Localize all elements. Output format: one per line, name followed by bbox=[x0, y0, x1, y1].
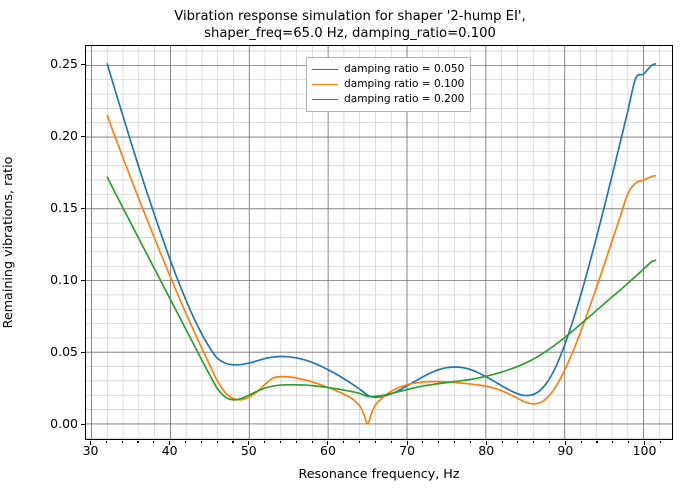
x-minor-tick-mark bbox=[422, 441, 423, 443]
legend-label: damping ratio = 0.200 bbox=[344, 94, 464, 105]
x-minor-tick-mark bbox=[122, 441, 123, 443]
y-tick-label: 0.10 bbox=[30, 274, 78, 287]
x-tick-mark bbox=[169, 441, 170, 445]
legend-color-swatch bbox=[312, 84, 338, 85]
x-tick-mark bbox=[644, 441, 645, 445]
legend-item: damping ratio = 0.200 bbox=[312, 92, 464, 107]
x-minor-tick-mark bbox=[612, 441, 613, 443]
legend-label: damping ratio = 0.100 bbox=[344, 79, 464, 90]
y-tick-mark bbox=[81, 352, 85, 353]
legend-label: damping ratio = 0.050 bbox=[344, 64, 464, 75]
y-tick-label: 0.00 bbox=[30, 418, 78, 431]
x-minor-tick-mark bbox=[137, 441, 138, 443]
x-tick-mark bbox=[248, 441, 249, 445]
x-tick-label: 40 bbox=[145, 444, 195, 458]
x-tick-mark bbox=[90, 441, 91, 445]
series-line-1 bbox=[107, 116, 655, 424]
x-axis-label: Resonance frequency, Hz bbox=[85, 466, 673, 481]
x-tick-label: 30 bbox=[66, 444, 116, 458]
legend-item: damping ratio = 0.050 bbox=[312, 62, 464, 77]
x-minor-tick-mark bbox=[280, 441, 281, 443]
x-tick-label: 100 bbox=[620, 444, 670, 458]
x-minor-tick-mark bbox=[343, 441, 344, 443]
legend-item: damping ratio = 0.100 bbox=[312, 77, 464, 92]
x-minor-tick-mark bbox=[581, 441, 582, 443]
x-tick-mark bbox=[327, 441, 328, 445]
y-axis-tick-labels: 0.000.050.100.150.200.25 bbox=[30, 45, 78, 440]
y-tick-label: 0.20 bbox=[30, 130, 78, 143]
x-tick-mark bbox=[407, 441, 408, 445]
x-minor-tick-mark bbox=[201, 441, 202, 443]
legend-color-swatch bbox=[312, 69, 338, 70]
x-tick-label: 60 bbox=[303, 444, 353, 458]
y-tick-mark bbox=[81, 136, 85, 137]
x-minor-tick-mark bbox=[438, 441, 439, 443]
x-minor-tick-mark bbox=[106, 441, 107, 443]
series-line-0 bbox=[107, 64, 655, 397]
chart-figure: Vibration response simulation for shaper… bbox=[0, 0, 700, 500]
x-minor-tick-mark bbox=[533, 441, 534, 443]
y-axis-label: Remaining vibrations, ratio bbox=[0, 45, 18, 440]
y-tick-mark bbox=[81, 64, 85, 65]
x-tick-mark bbox=[486, 441, 487, 445]
x-minor-tick-mark bbox=[375, 441, 376, 443]
chart-title: Vibration response simulation for shaper… bbox=[0, 8, 700, 42]
x-minor-tick-mark bbox=[217, 441, 218, 443]
x-minor-tick-mark bbox=[312, 441, 313, 443]
y-tick-mark bbox=[81, 280, 85, 281]
y-tick-label: 0.05 bbox=[30, 346, 78, 359]
series-line-2 bbox=[107, 177, 655, 400]
x-minor-tick-mark bbox=[517, 441, 518, 443]
x-minor-tick-mark bbox=[296, 441, 297, 443]
x-tick-label: 70 bbox=[382, 444, 432, 458]
x-minor-tick-mark bbox=[391, 441, 392, 443]
x-minor-tick-mark bbox=[628, 441, 629, 443]
x-minor-tick-mark bbox=[660, 441, 661, 443]
y-tick-label: 0.25 bbox=[30, 58, 78, 71]
x-tick-mark bbox=[565, 441, 566, 445]
x-tick-label: 50 bbox=[224, 444, 274, 458]
x-tick-label: 80 bbox=[461, 444, 511, 458]
y-tick-label: 0.15 bbox=[30, 202, 78, 215]
x-minor-tick-mark bbox=[185, 441, 186, 443]
x-minor-tick-mark bbox=[454, 441, 455, 443]
legend-color-swatch bbox=[312, 99, 338, 100]
x-minor-tick-mark bbox=[232, 441, 233, 443]
x-axis-tick-labels: 30405060708090100 bbox=[85, 444, 673, 462]
legend: damping ratio = 0.050damping ratio = 0.1… bbox=[306, 57, 471, 112]
y-tick-mark bbox=[81, 208, 85, 209]
x-minor-tick-mark bbox=[596, 441, 597, 443]
x-minor-tick-mark bbox=[153, 441, 154, 443]
x-minor-tick-mark bbox=[470, 441, 471, 443]
y-tick-mark bbox=[81, 424, 85, 425]
x-minor-tick-mark bbox=[264, 441, 265, 443]
x-minor-tick-mark bbox=[359, 441, 360, 443]
x-tick-label: 90 bbox=[540, 444, 590, 458]
x-minor-tick-mark bbox=[502, 441, 503, 443]
x-minor-tick-mark bbox=[549, 441, 550, 443]
